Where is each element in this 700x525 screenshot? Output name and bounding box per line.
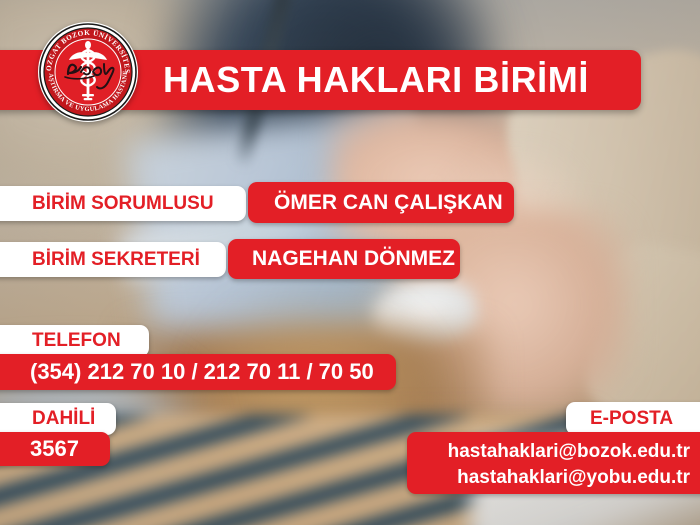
extension-label-text: DAHİLİ [32, 408, 95, 430]
unit-manager-value: ÖMER CAN ÇALIŞKAN [248, 182, 514, 223]
unit-secretary-label: BİRİM SEKRETERİ [0, 242, 226, 277]
phone-value[interactable]: (354) 212 70 10 / 212 70 11 / 70 50 [0, 354, 396, 390]
unit-secretary-label-text: BİRİM SEKRETERİ [32, 249, 200, 271]
email-address-primary[interactable]: hastahaklari@bozok.edu.tr [425, 439, 690, 465]
unit-secretary-value: NAGEHAN DÖNMEZ [228, 239, 460, 279]
phone-label: TELEFON [0, 325, 149, 357]
email-address-secondary[interactable]: hastahaklari@yobu.edu.tr [425, 465, 690, 491]
unit-manager-label: BİRİM SORUMLUSU [0, 186, 246, 221]
phone-number: (354) 212 70 10 / 212 70 11 / 70 50 [30, 359, 374, 385]
email-label-text: E-POSTA [590, 408, 673, 430]
unit-manager-label-text: BİRİM SORUMLUSU [32, 193, 214, 215]
unit-secretary-name: NAGEHAN DÖNMEZ [252, 247, 455, 271]
university-seal-logo: YOZGAT BOZOK ÜNİVERSİTESİ ARAŞTIRMA VE U… [38, 22, 138, 122]
page-title: HASTA HAKLARI BİRİMİ [163, 50, 633, 110]
phone-label-text: TELEFON [32, 330, 121, 352]
email-value-box[interactable]: hastahaklari@bozok.edu.tr hastahaklari@y… [407, 432, 700, 494]
email-label: E-POSTA [566, 402, 700, 435]
unit-manager-name: ÖMER CAN ÇALIŞKAN [274, 191, 503, 215]
extension-label: DAHİLİ [0, 403, 116, 435]
extension-number: 3567 [30, 436, 79, 462]
poster-card: HASTA HAKLARI BİRİMİ YOZGAT BOZOK ÜNİVER… [0, 0, 700, 525]
extension-value: 3567 [0, 432, 110, 466]
